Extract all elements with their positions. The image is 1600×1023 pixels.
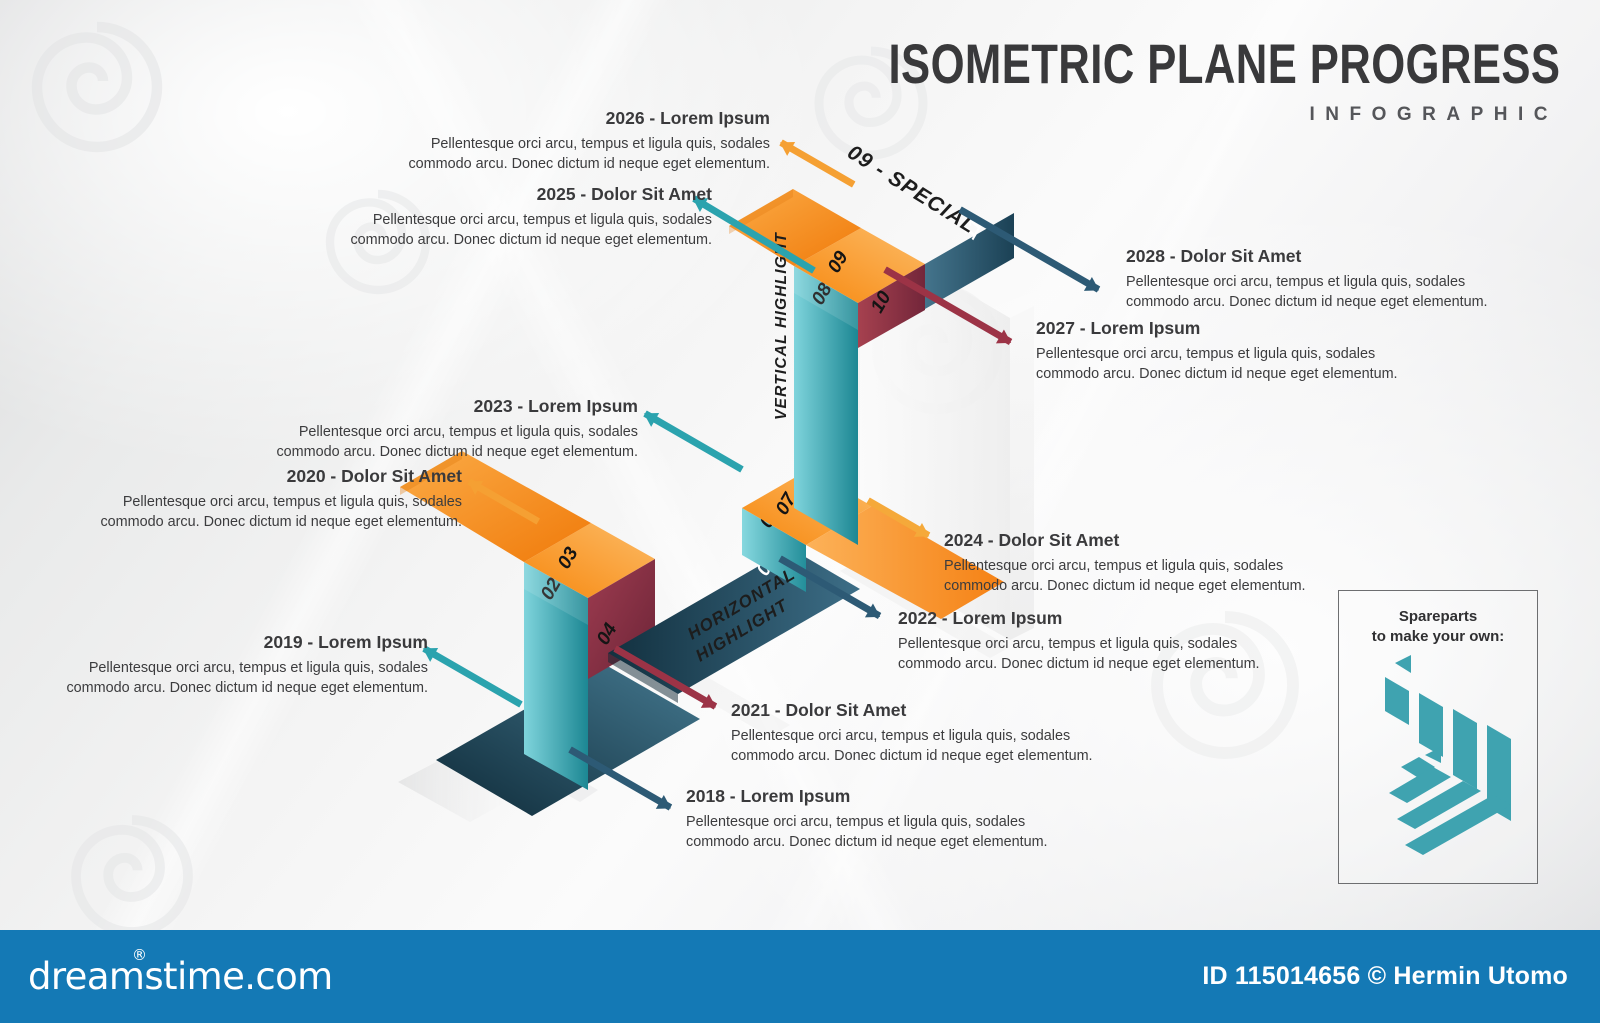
- header: ISOMETRIC PLANE PROGRESS INFOGRAPHIC: [699, 36, 1560, 126]
- entry-title: 2020 - Dolor Sit Amet: [92, 466, 462, 488]
- page-subtitle: INFOGRAPHIC: [699, 104, 1560, 126]
- entry-2028: 2028 - Dolor Sit Amet Pellentesque orci …: [1126, 246, 1496, 313]
- entry-2018: 2018 - Lorem Ipsum Pellentesque orci arc…: [686, 786, 1056, 853]
- entry-body: Pellentesque orci arcu, tempus et ligula…: [1036, 344, 1406, 385]
- logo-text: dreamstime.com: [28, 955, 333, 998]
- entry-title: 2024 - Dolor Sit Amet: [944, 530, 1314, 552]
- footer-bar: dreamstime.com ® ID 115014656 © Hermin U…: [0, 930, 1600, 1023]
- entry-body: Pellentesque orci arcu, tempus et ligula…: [342, 210, 712, 251]
- entry-body: Pellentesque orci arcu, tempus et ligula…: [731, 726, 1101, 767]
- entry-2027: 2027 - Lorem Ipsum Pellentesque orci arc…: [1036, 318, 1406, 385]
- page-title: ISOMETRIC PLANE PROGRESS: [888, 36, 1560, 92]
- registered-icon: ®: [132, 946, 146, 964]
- entry-title: 2019 - Lorem Ipsum: [58, 632, 428, 654]
- spareparts-shapes: [1339, 643, 1539, 881]
- entry-body: Pellentesque orci arcu, tempus et ligula…: [58, 658, 428, 699]
- entry-2025: 2025 - Dolor Sit Amet Pellentesque orci …: [342, 184, 712, 251]
- entry-2019: 2019 - Lorem Ipsum Pellentesque orci arc…: [58, 632, 428, 699]
- spareparts-title: Spareparts to make your own:: [1339, 607, 1537, 646]
- entry-title: 2025 - Dolor Sit Amet: [342, 184, 712, 206]
- entry-2021: 2021 - Dolor Sit Amet Pellentesque orci …: [731, 700, 1101, 767]
- entry-2026: 2026 - Lorem Ipsum Pellentesque orci arc…: [400, 108, 770, 175]
- entry-title: 2018 - Lorem Ipsum: [686, 786, 1056, 808]
- entry-title: 2023 - Lorem Ipsum: [268, 396, 638, 418]
- entry-body: Pellentesque orci arcu, tempus et ligula…: [1126, 272, 1496, 313]
- entry-2024: 2024 - Dolor Sit Amet Pellentesque orci …: [944, 530, 1314, 597]
- entry-2022: 2022 - Lorem Ipsum Pellentesque orci arc…: [898, 608, 1268, 675]
- entry-body: Pellentesque orci arcu, tempus et ligula…: [92, 492, 462, 533]
- entry-2023: 2023 - Lorem Ipsum Pellentesque orci arc…: [268, 396, 638, 463]
- spareparts-panel: Spareparts to make your own:: [1338, 590, 1538, 884]
- entry-body: Pellentesque orci arcu, tempus et ligula…: [400, 134, 770, 175]
- entry-title: 2027 - Lorem Ipsum: [1036, 318, 1406, 340]
- entry-body: Pellentesque orci arcu, tempus et ligula…: [944, 556, 1314, 597]
- dreamstime-logo: dreamstime.com ®: [28, 955, 333, 998]
- image-credit: ID 115014656 © Hermin Utomo: [1202, 962, 1568, 991]
- entry-title: 2022 - Lorem Ipsum: [898, 608, 1268, 630]
- entry-body: Pellentesque orci arcu, tempus et ligula…: [268, 422, 638, 463]
- entry-body: Pellentesque orci arcu, tempus et ligula…: [686, 812, 1056, 853]
- spareparts-line1: Spareparts: [1339, 607, 1537, 627]
- entry-body: Pellentesque orci arcu, tempus et ligula…: [898, 634, 1268, 675]
- entry-title: 2021 - Dolor Sit Amet: [731, 700, 1101, 722]
- entry-title: 2026 - Lorem Ipsum: [400, 108, 770, 130]
- entry-title: 2028 - Dolor Sit Amet: [1126, 246, 1496, 268]
- infographic-canvas: ISOMETRIC PLANE PROGRESS INFOGRAPHIC: [0, 0, 1600, 1023]
- entry-2020: 2020 - Dolor Sit Amet Pellentesque orci …: [92, 466, 462, 533]
